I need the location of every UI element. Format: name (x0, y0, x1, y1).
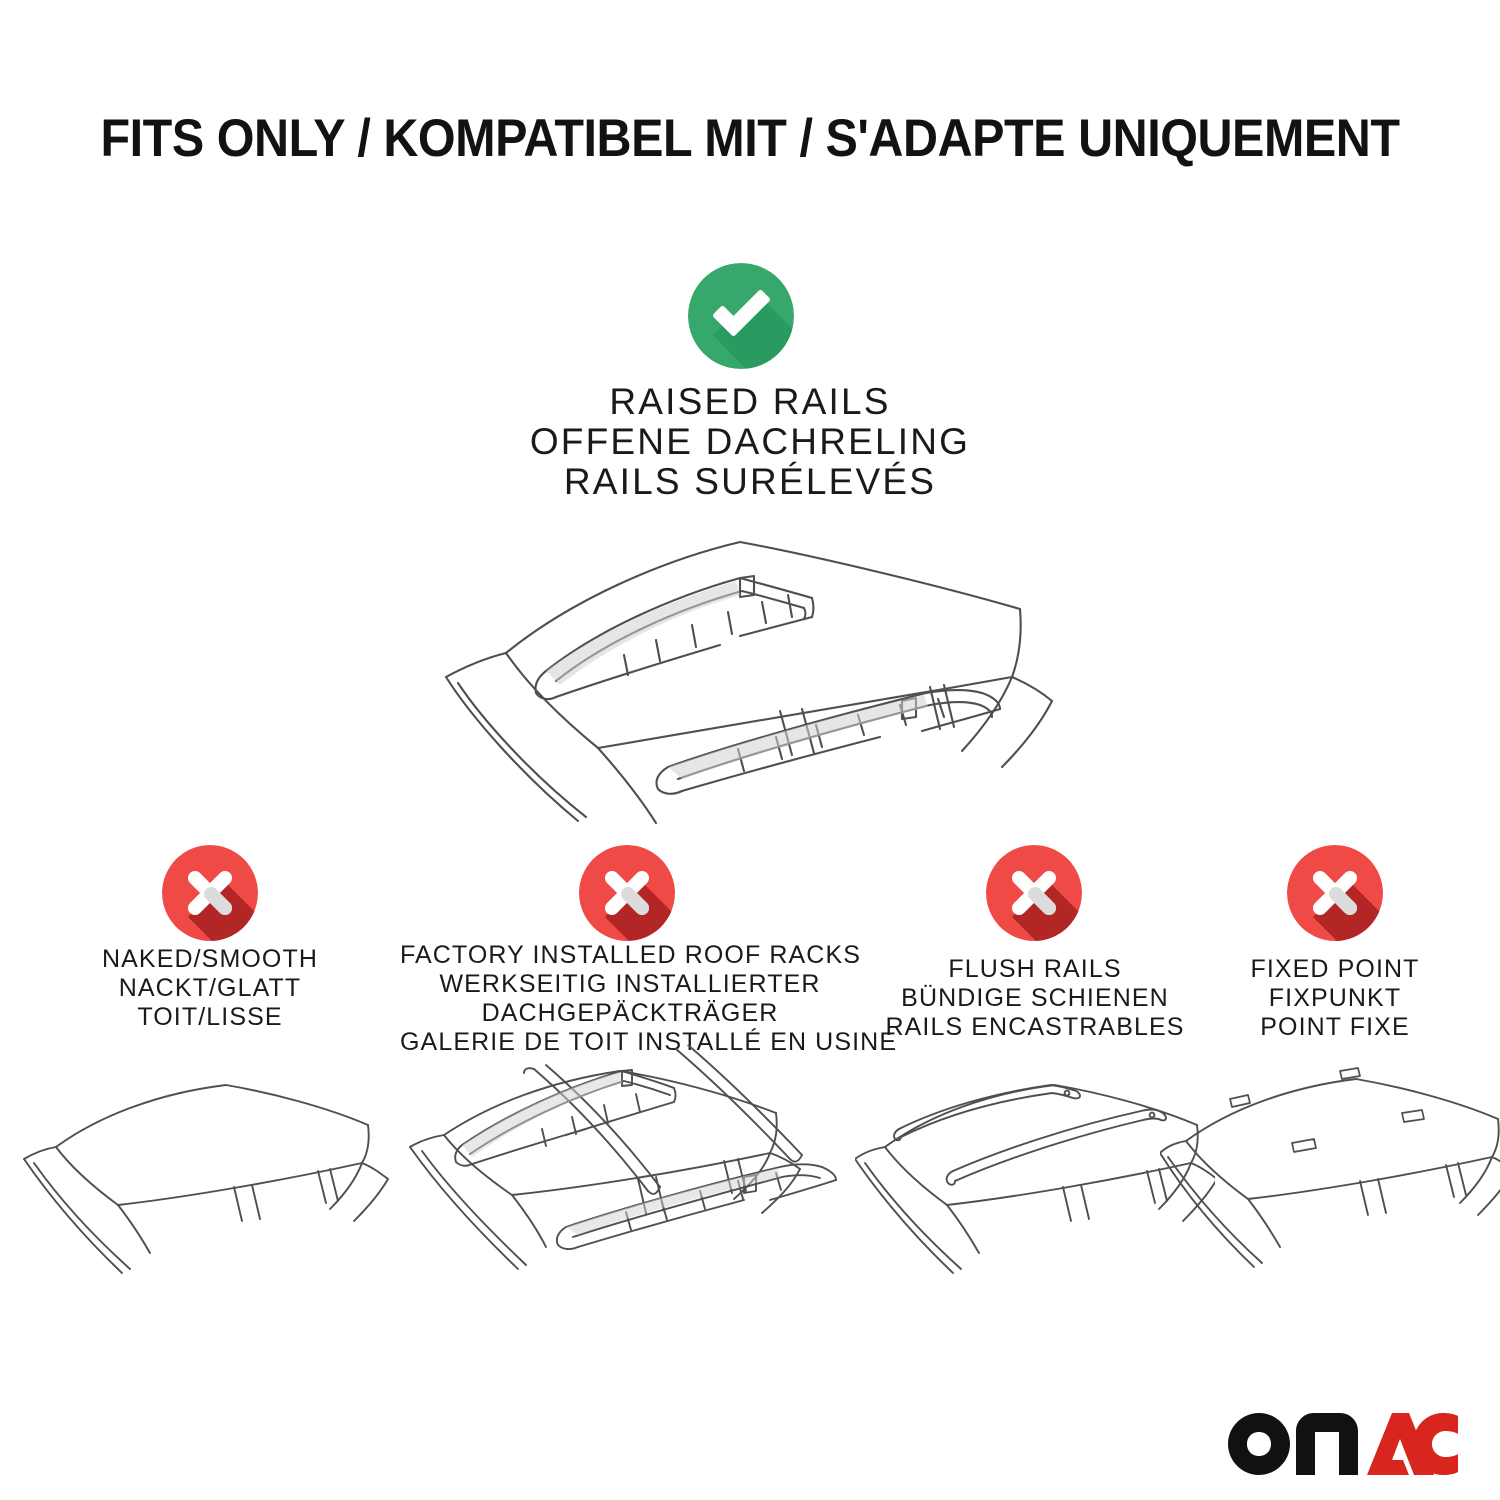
label-line-2: FIXPUNKT (1160, 984, 1500, 1013)
rejected-option-fixedpoint: FIXED POINT FIXPUNKT POINT FIXE (1160, 845, 1500, 945)
car-roof-factory-racks-illustration (400, 1045, 860, 1293)
approved-label-fr: RAILS SURÉLEVÉS (0, 462, 1500, 502)
label-line-1: NAKED/SMOOTH (20, 945, 400, 974)
approved-label-en: RAISED RAILS (0, 382, 1500, 422)
approved-labels: RAISED RAILS OFFENE DACHRELING RAILS SUR… (0, 382, 1500, 502)
car-roof-fixed-point-illustration (1160, 1063, 1500, 1293)
label-line-1: FIXED POINT (1160, 955, 1500, 984)
rejected-labels-fixedpoint: FIXED POINT FIXPUNKT POINT FIXE (1160, 955, 1500, 1042)
rejected-labels-factory: FACTORY INSTALLED ROOF RACKS WERKSEITIG … (400, 941, 860, 1057)
approved-label-de: OFFENE DACHRELING (0, 422, 1500, 462)
label-line-1: FACTORY INSTALLED ROOF RACKS (400, 941, 860, 970)
x-icon-wrap (20, 845, 400, 945)
x-icon-wrap (1160, 845, 1500, 945)
label-line-2: WERKSEITIG INSTALLIERTER (400, 970, 860, 999)
label-line-2: NACKT/GLATT (20, 974, 400, 1003)
rejected-labels-naked: NAKED/SMOOTH NACKT/GLATT TOIT/LISSE (20, 945, 400, 1032)
car-roof-naked-smooth-illustration (20, 1063, 400, 1293)
label-line-3: DACHGEPÄCKTRÄGER (400, 999, 860, 1028)
label-line-3: TOIT/LISSE (20, 1003, 400, 1032)
x-icon-wrap (400, 845, 860, 945)
x-circle-icon (579, 845, 675, 941)
x-circle-icon (986, 845, 1082, 941)
x-circle-icon (1287, 845, 1383, 941)
omac-logo (1228, 1413, 1458, 1475)
check-circle-icon (688, 263, 794, 369)
x-circle-icon (162, 845, 258, 941)
rejected-option-factory: FACTORY INSTALLED ROOF RACKS WERKSEITIG … (400, 845, 860, 945)
rejected-option-naked: NAKED/SMOOTH NACKT/GLATT TOIT/LISSE (20, 845, 400, 945)
label-line-3: POINT FIXE (1160, 1013, 1500, 1042)
car-roof-raised-rails-illustration (410, 505, 1100, 835)
page-title: FITS ONLY / KOMPATIBEL MIT / S'ADAPTE UN… (64, 108, 1437, 169)
